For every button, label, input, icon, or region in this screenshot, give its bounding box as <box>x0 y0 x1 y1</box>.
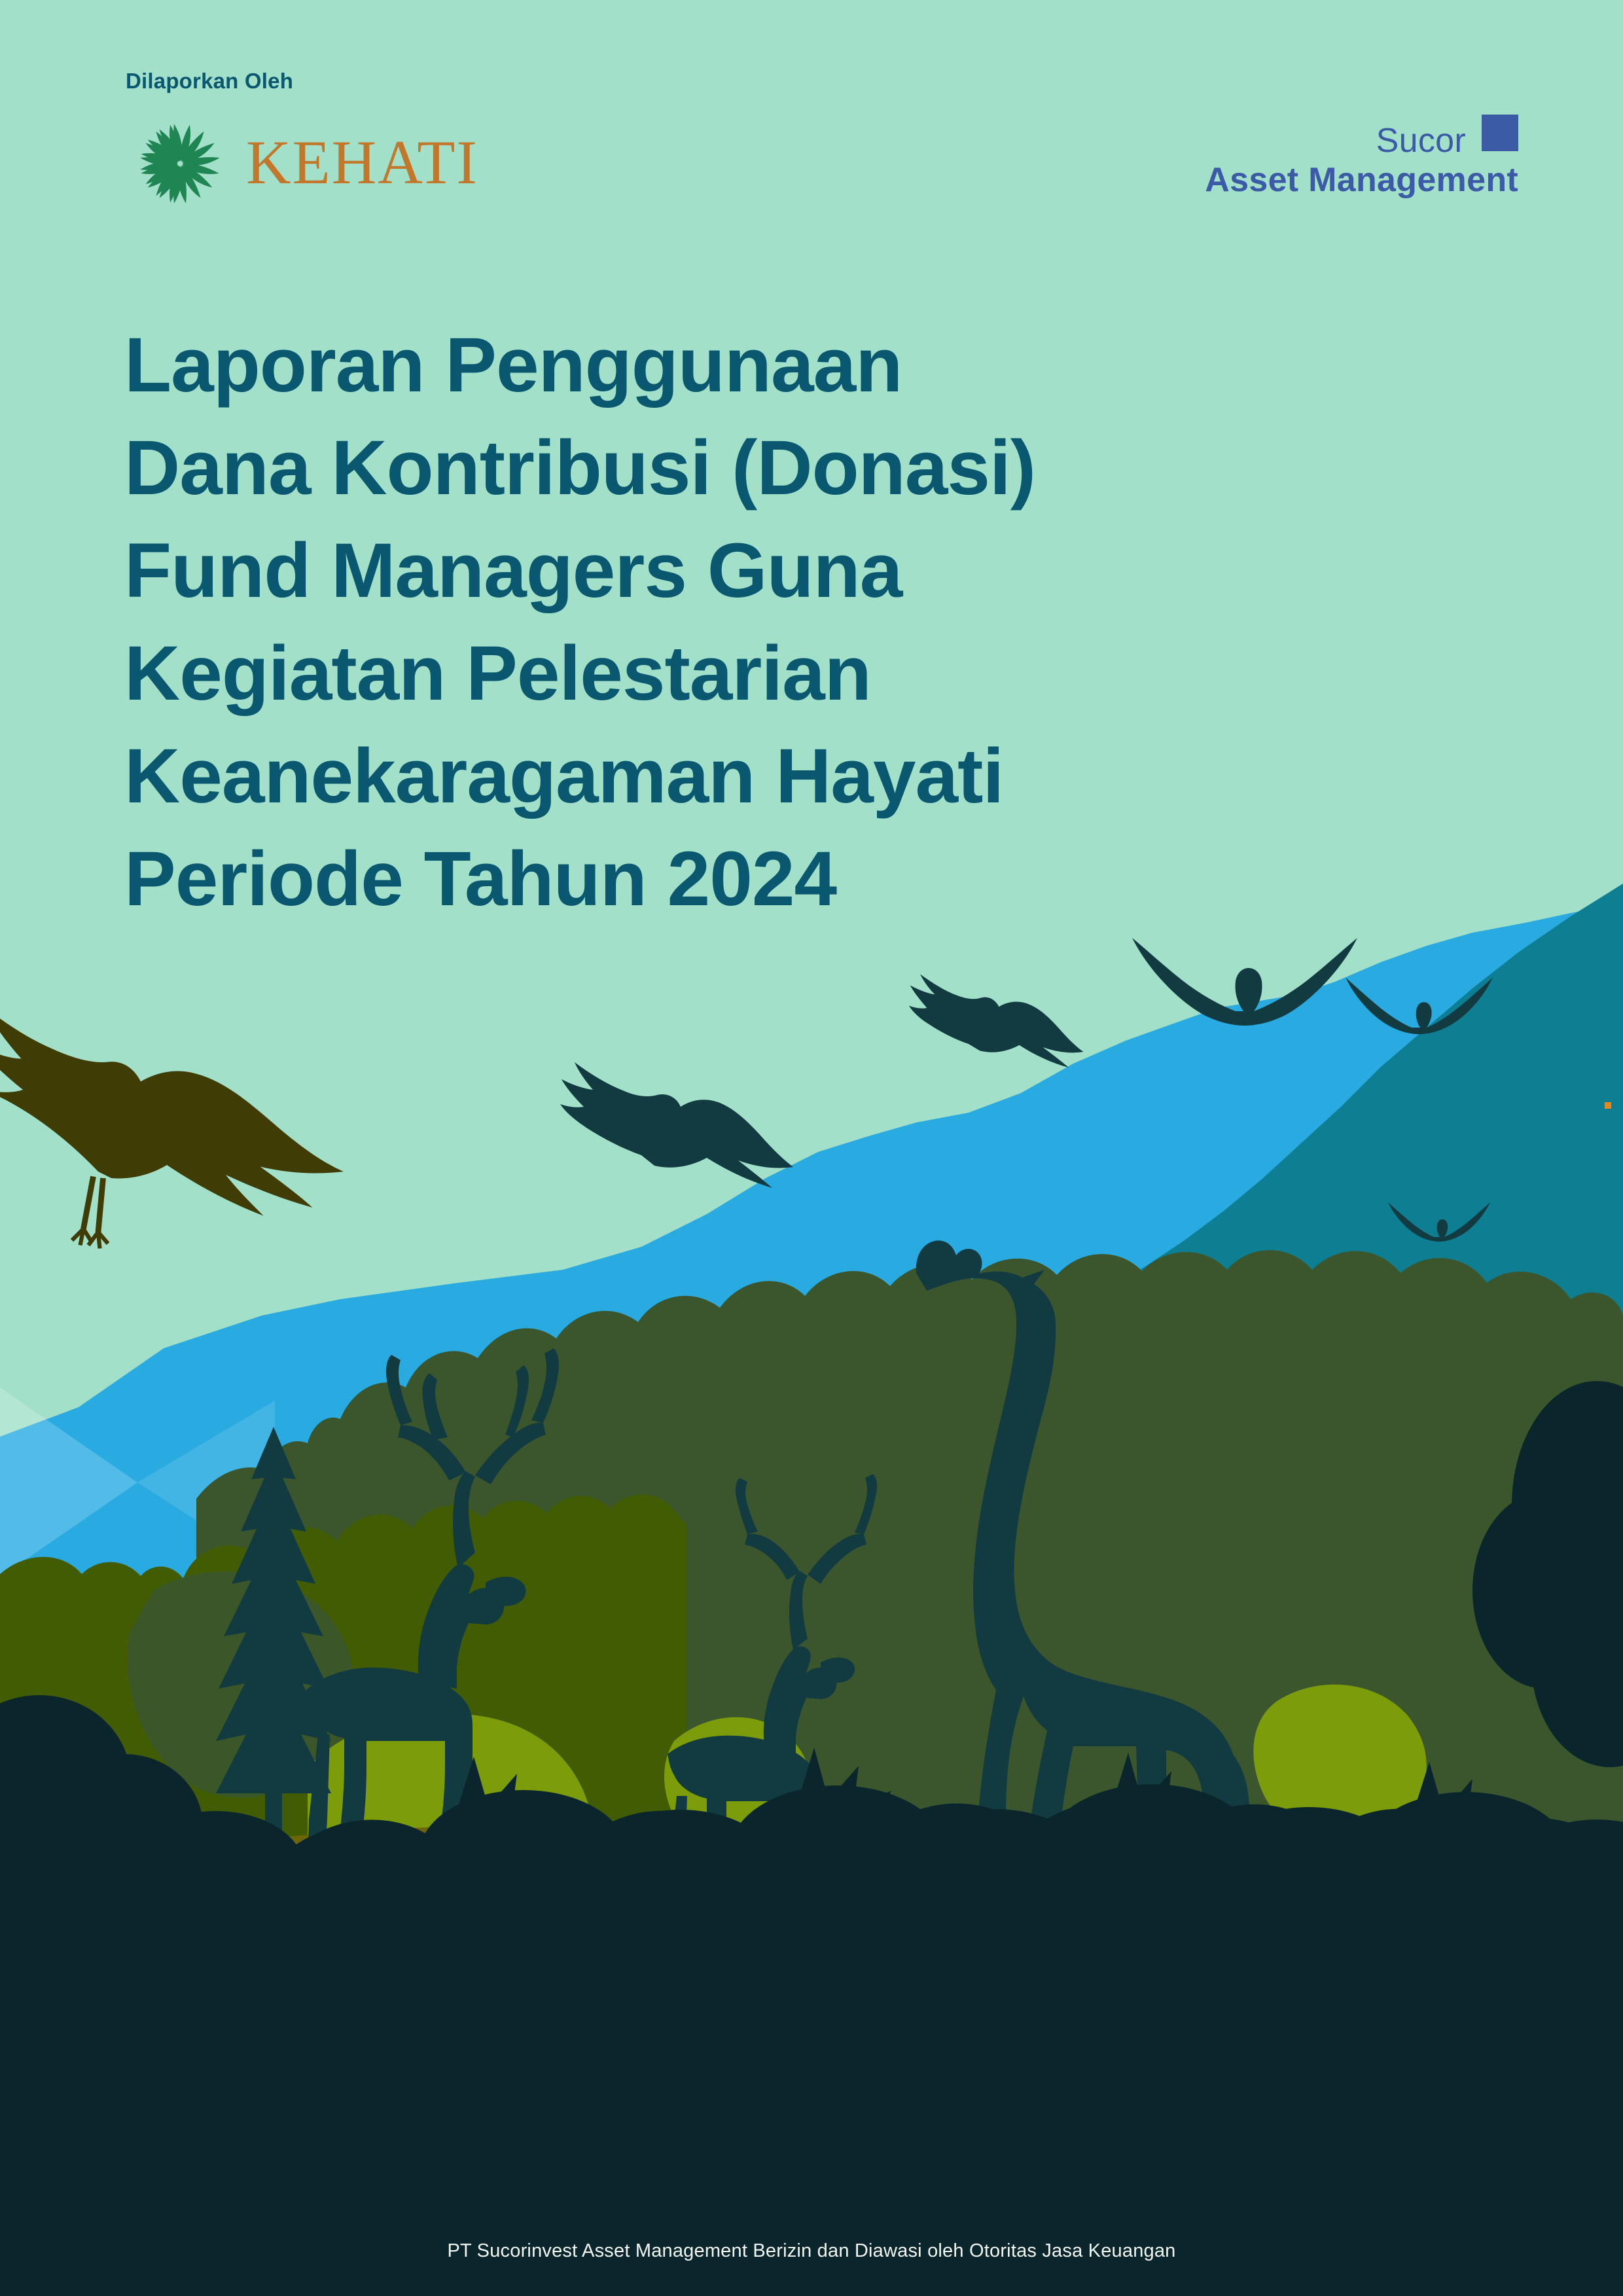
title-line-4: Kegiatan Pelestarian <box>124 622 1368 725</box>
page-title: Laporan Penggunaan Dana Kontribusi (Dona… <box>124 314 1368 931</box>
title-line-2: Dana Kontribusi (Donasi) <box>124 417 1368 520</box>
title-line-5: Keanekaragaman Hayati <box>124 725 1368 828</box>
footer-disclaimer: PT Sucorinvest Asset Management Berizin … <box>447 2240 1175 2262</box>
leaf-rosette-icon <box>118 121 242 206</box>
cover-header: Dilaporkan Oleh <box>0 0 1623 262</box>
orange-speck <box>1605 1102 1611 1109</box>
sucor-logo: Sucor Asset Management <box>1152 121 1518 213</box>
title-line-6: Periode Tahun 2024 <box>124 828 1368 931</box>
kehati-wordmark: KEHATI <box>246 126 478 198</box>
reported-by-label: Dilaporkan Oleh <box>126 69 293 94</box>
title-line-1: Laporan Penggunaan <box>124 314 1368 417</box>
cover-page: Dilaporkan Oleh <box>0 0 1623 2296</box>
sucor-tagline: Asset Management <box>1152 160 1518 200</box>
kehati-logo: KEHATI <box>118 121 432 206</box>
brand-square-icon <box>1482 115 1518 151</box>
title-line-3: Fund Managers Guna <box>124 520 1368 622</box>
sucor-name: Sucor <box>1152 121 1518 160</box>
footer: PT Sucorinvest Asset Management Berizin … <box>0 2240 1623 2262</box>
